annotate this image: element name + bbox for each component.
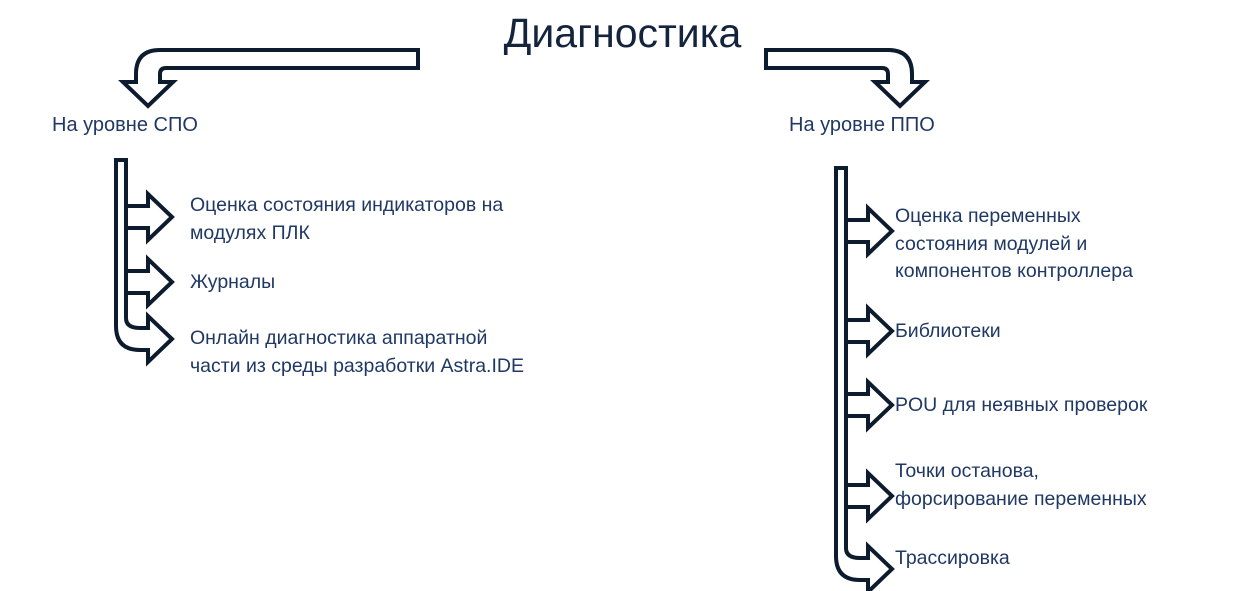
branch-right-item-3: POU для неявных проверок <box>895 392 1147 420</box>
branch-right-item-5: Трассировка <box>895 545 1010 573</box>
diagnostics-diagram: Диагностика На уровне СПО Оценка <box>0 0 1245 591</box>
comb-branch-arrow-left-1-icon <box>126 194 172 240</box>
branch-left-label: На уровне СПО <box>52 112 198 138</box>
comb-branch-arrow-right-2-icon <box>846 308 892 354</box>
elbow-arrow-down-right-icon <box>766 50 925 106</box>
branch-right-item-1: Оценка переменных состояния модулей и ко… <box>895 203 1133 286</box>
comb-branch-arrow-left-2-icon <box>126 259 172 305</box>
branch-left-item-3: Онлайн диагностика аппаратной части из с… <box>190 325 524 380</box>
branch-left-item-1: Оценка состояния индикаторов на модулях … <box>190 192 503 247</box>
branch-right-label: На уровне ППО <box>789 112 935 138</box>
branch-left-item-2: Журналы <box>190 269 275 297</box>
comb-branch-arrow-right-4-icon <box>846 473 892 519</box>
comb-branch-arrow-right-3-icon <box>846 382 892 428</box>
branch-right-item-4: Точки останова, форсирование переменных <box>895 458 1147 513</box>
comb-branch-arrow-right-1-icon <box>846 208 892 254</box>
branch-right-item-2: Библиотеки <box>895 318 1001 346</box>
comb-arrow-group-left-icon <box>116 160 172 362</box>
elbow-arrow-down-left-icon <box>123 50 418 106</box>
